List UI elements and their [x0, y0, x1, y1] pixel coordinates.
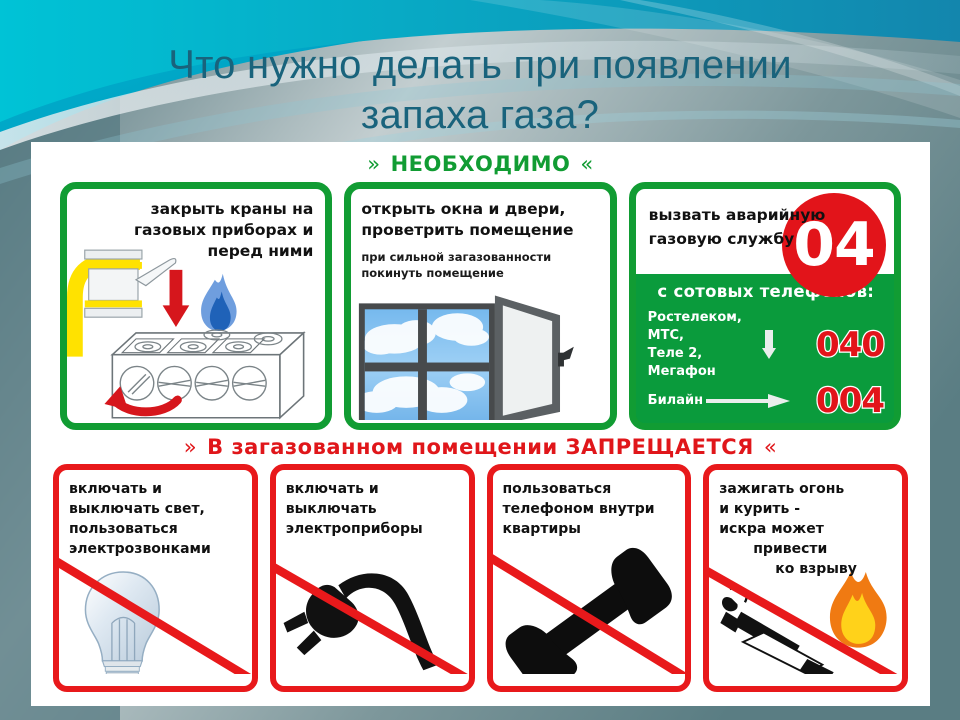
card-no-light-switch: включать и выключать свет, пользоваться …	[53, 464, 258, 692]
chevron-right-icon: «	[570, 152, 603, 176]
operator-row: Ростелеком, МТС, Теле 2, Мегафон 040	[648, 309, 884, 381]
operator-number: 004	[792, 383, 884, 419]
prohibition-slash-icon	[493, 470, 686, 674]
required-cards-row: закрыть краны на газовых приборах и пере…	[41, 182, 920, 430]
card-no-fire-or-smoking: зажигать огонь и курить - искра может пр…	[703, 464, 908, 692]
card-close-gas-valves: закрыть краны на газовых приборах и пере…	[60, 182, 332, 430]
chevron-right-icon: «	[754, 435, 787, 459]
card-open-windows-title: открыть окна и двери, проветрить помещен…	[351, 189, 609, 241]
page-title: Что нужно делать при появлении запаха га…	[0, 40, 960, 140]
operator-number: 040	[797, 327, 884, 363]
chevron-left-icon: »	[357, 152, 390, 176]
forbidden-cards-row: включать и выключать свет, пользоваться …	[41, 464, 920, 692]
card-no-phone-indoors: пользоваться телефоном внутри квартиры	[487, 464, 692, 692]
card-close-gas-valves-title: закрыть краны на газовых приборах и пере…	[67, 189, 325, 262]
short-arrow-icon	[742, 328, 797, 362]
gas-safety-poster: »НЕОБХОДИМО« закрыть краны на газовых пр…	[31, 142, 930, 706]
operator-row: Билайн 004	[648, 383, 884, 419]
chevron-left-icon: »	[174, 435, 207, 459]
long-arrow-icon	[706, 392, 792, 410]
forbidden-banner-label: В загазованном помещении ЗАПРЕЩАЕТСЯ	[207, 435, 754, 459]
card-no-electrical-appliances: включать и выключать электроприборы	[270, 464, 475, 692]
emergency-headline-block: вызвать аварийную газовую службу 04	[636, 189, 894, 274]
forbidden-banner: »В загазованном помещении ЗАПРЕЩАЕТСЯ«	[41, 430, 920, 464]
prohibition-slash-icon	[276, 470, 469, 674]
card-call-emergency-title: вызвать аварийную газовую службу	[649, 203, 884, 251]
required-banner: »НЕОБХОДИМО«	[41, 146, 920, 182]
required-banner-label: НЕОБХОДИМО	[391, 152, 571, 176]
card-open-windows-subtitle: при сильной загазованности покинуть поме…	[351, 241, 609, 281]
card-call-emergency-service: вызвать аварийную газовую службу 04 с со…	[629, 182, 901, 430]
operator-names: Ростелеком, МТС, Теле 2, Мегафон	[648, 309, 742, 381]
prohibition-slash-icon	[709, 470, 902, 674]
prohibition-slash-icon	[59, 470, 252, 674]
emergency-cell-block: с сотовых телефонов: Ростелеком, МТС, Те…	[636, 274, 894, 423]
card-open-windows: открыть окна и двери, проветрить помещен…	[344, 182, 616, 430]
